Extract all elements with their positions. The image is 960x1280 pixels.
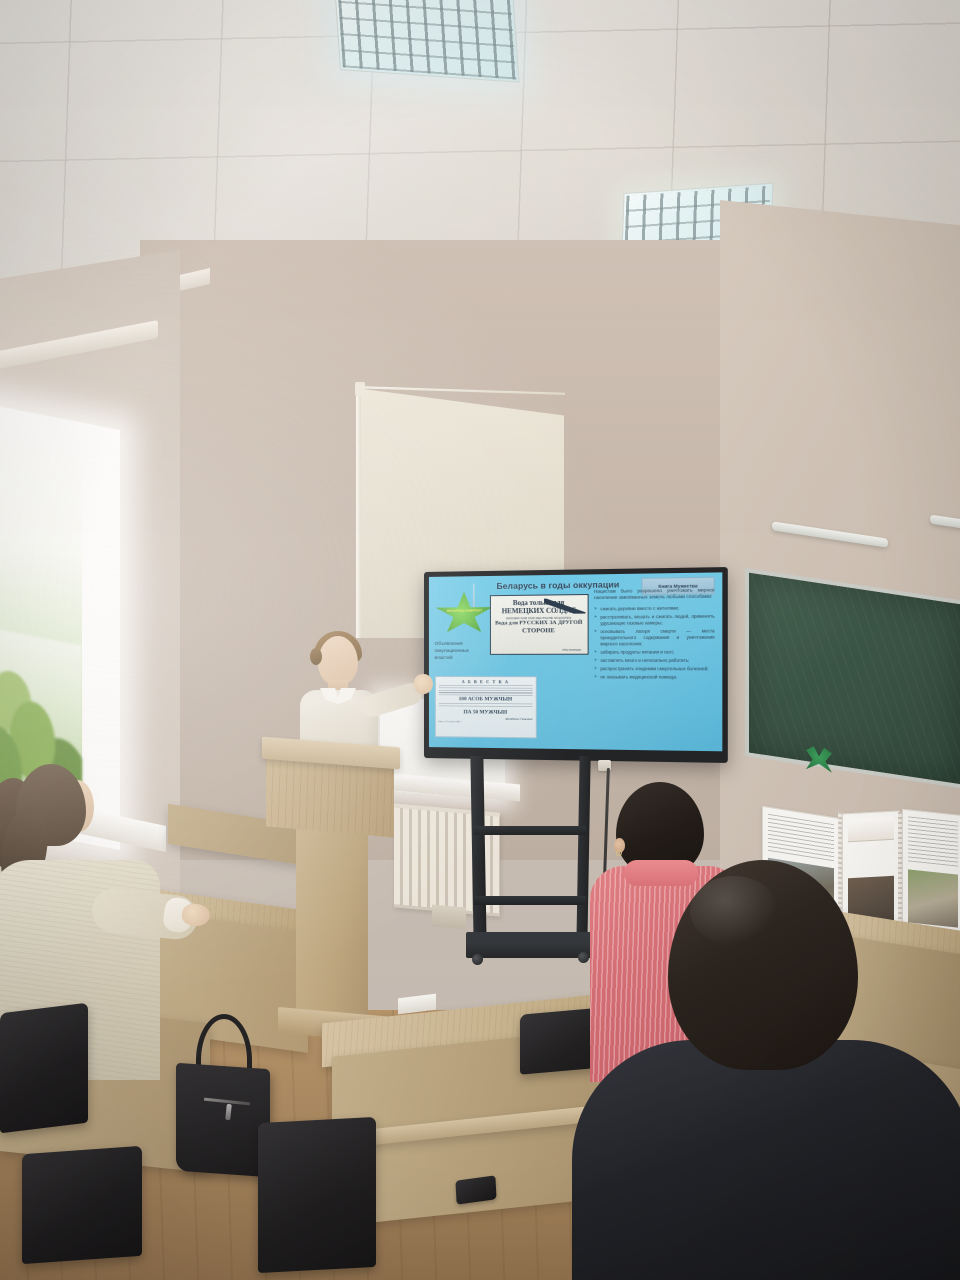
- slide-bullet-list: сжигать деревни вместе с жителями; расст…: [594, 605, 715, 680]
- memorial-star-emblem: БЕЛАРУСЬ ПАМЯТАЕТ: [435, 591, 494, 636]
- radiator-leg: [432, 905, 466, 930]
- slide-bullet: забирать продукты питания и скот;: [594, 649, 715, 656]
- notice-middle: [438, 703, 532, 709]
- classroom-photo: Беларусь в годы оккупации Книга Мужества…: [0, 0, 960, 1280]
- tv-stand-crossbar-lower: [474, 896, 586, 905]
- slide-bullet: не оказывать медицинской помощи.: [594, 674, 715, 681]
- chalkboard-texture: [749, 573, 960, 785]
- notice-big-line-1: 100 АСОБ МУЖЧЫН: [438, 696, 532, 703]
- exhibit-text-block: [768, 814, 834, 863]
- window-glass: [0, 419, 82, 820]
- slide-lead-paragraph: Нацистам было разрешено уничтожать мирно…: [594, 587, 715, 602]
- caster-wheel-left: [472, 954, 483, 965]
- notice-header: А Б В Е С Т К А: [438, 679, 532, 684]
- emblem-label: БЕЛАРУСЬ ПАМЯТАЕТ: [444, 609, 486, 613]
- student-dark-foreground: [572, 860, 960, 1280]
- tv-stand-crossbar-upper: [474, 826, 586, 835]
- poster-arrow-icon: [544, 598, 585, 614]
- student-shoulders: [572, 1040, 960, 1280]
- slide-left-caption: Объявления оккупационных властей: [435, 640, 486, 662]
- presenter-hair-bun: [310, 648, 322, 665]
- star-icon: [435, 591, 494, 636]
- slide-bullet: распространять эпидемии смертельных боле…: [594, 666, 715, 673]
- slide-bullet: сжигать деревни вместе с жителями;: [594, 605, 715, 613]
- notice-big-line-2: ПА 50 МУЖЧЫН: [438, 709, 532, 716]
- poster-signature: обер-командир: [562, 648, 581, 651]
- hair-highlight: [690, 876, 778, 946]
- podium-stem: [296, 825, 368, 1022]
- occupation-notice-document: А Б В Е С Т К А 100 АСОБ МУЖЧЫН ПА 50 МУ…: [435, 676, 537, 739]
- slide-bullet: расстреливать, вешать и сжигать людей, п…: [594, 613, 715, 627]
- louver-grille-icon: [336, 0, 517, 80]
- notice-footer: Мінск, 25 ліпеня 1941 г.: [438, 721, 532, 724]
- display-screen: Беларусь в годы оккупации Книга Мужества…: [429, 572, 722, 751]
- roller-blind-edge: [356, 390, 361, 638]
- slide-bullet: заставлять много и непосильно работать;: [594, 658, 715, 665]
- chair-left[interactable]: [0, 1003, 88, 1134]
- slide-right-text-block: Нацистам было разрешено уничтожать мирно…: [594, 587, 715, 682]
- chair-center[interactable]: [258, 1117, 376, 1273]
- exhibit-text-block: [908, 816, 958, 866]
- chair-left-front[interactable]: [22, 1146, 142, 1264]
- presentation-slide: Беларусь в годы оккупации Книга Мужества…: [429, 572, 722, 751]
- ceiling-light-panel-1: [332, 0, 519, 83]
- green-chalkboard: [745, 568, 960, 789]
- earring-icon: [616, 850, 622, 856]
- black-tote-bag[interactable]: [176, 1063, 270, 1178]
- exhibit-header-strip: [848, 817, 894, 842]
- roller-blind-bracket: [355, 382, 365, 396]
- presenter-head: [318, 636, 358, 686]
- slide-bullet: основывать лагеря смерти — места принуди…: [594, 628, 715, 648]
- notice-body: [438, 685, 532, 696]
- occupation-poster-image: Вода только для НЕМЕЦКИХ СОЛДАТ WASSER N…: [490, 594, 589, 655]
- poster-line-5: СТОРОНЕ: [493, 628, 585, 635]
- presentation-display[interactable]: Беларусь в годы оккупации Книга Мужества…: [424, 567, 728, 763]
